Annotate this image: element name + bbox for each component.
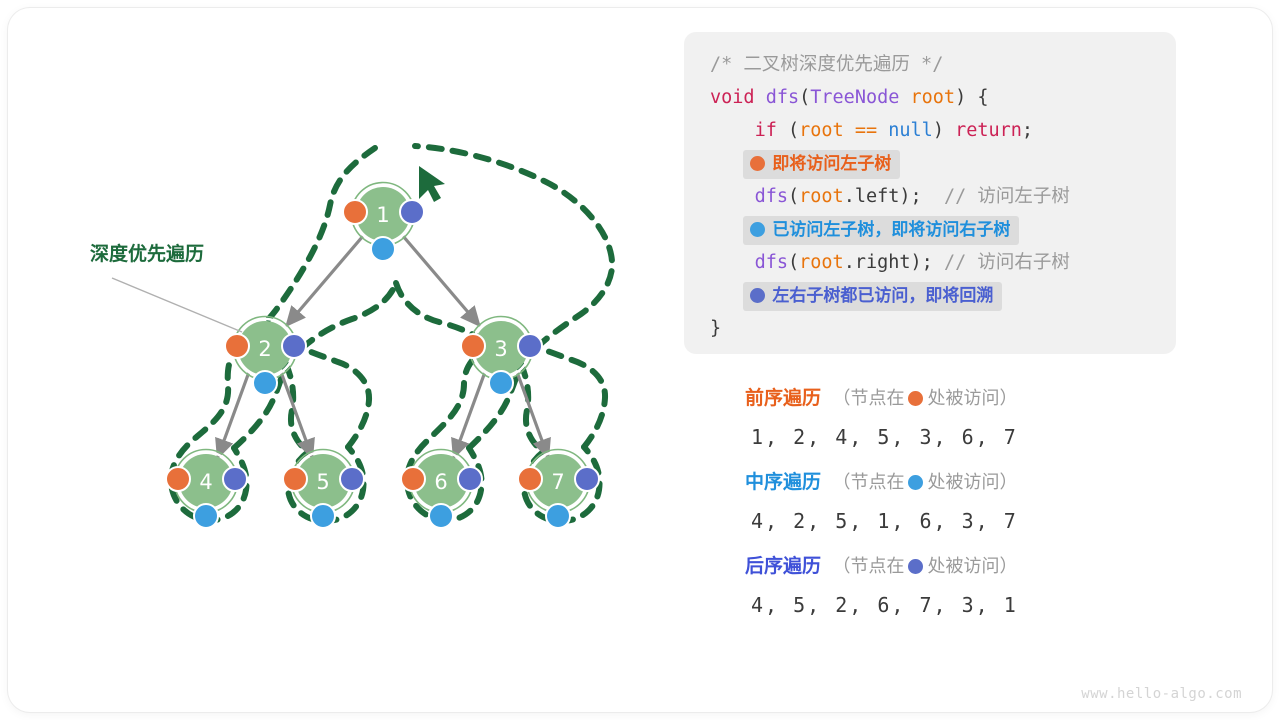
code-panel: /* 二叉树深度优先遍历 */ void dfs(TreeNode root) … <box>684 32 1176 354</box>
code-dfsleft-fn: dfs <box>755 186 788 207</box>
preorder-note-suffix: 处被访问） <box>927 388 1017 409</box>
code-line-highlight-in: 已访问左子树，即将访问右子树 <box>710 213 1154 246</box>
code-dfsleft-comment: // 访问左子树 <box>944 186 1070 207</box>
code-if-var: root <box>799 120 844 141</box>
dfs-caption-group: 深度优先遍历 <box>90 242 242 332</box>
code-line-comment: /* 二叉树深度优先遍历 */ <box>710 48 1154 81</box>
preorder-dot-6 <box>401 467 425 491</box>
postorder-dot-7 <box>575 467 599 491</box>
inorder-sequence: 4, 2, 5, 1, 6, 3, 7 <box>751 509 1185 533</box>
code-dfsright-var: root <box>799 252 844 273</box>
inorder-dot-4 <box>194 504 218 528</box>
inorder-note-prefix: （节点在 <box>832 472 904 493</box>
code-if-paren-close: ) <box>933 120 944 141</box>
code-line-if: if (root == null) return; <box>710 114 1154 147</box>
node-label-2: 2 <box>258 337 271 361</box>
tree-node-3[interactable]: 3 <box>461 317 542 396</box>
highlight-preorder: 即将访问左子树 <box>743 150 900 179</box>
postorder-dot-6 <box>458 467 482 491</box>
node-label-7: 7 <box>551 470 564 494</box>
highlight-preorder-text: 即将访问左子树 <box>772 154 891 174</box>
dfs-caption-text: 深度优先遍历 <box>90 242 204 265</box>
traversal-legend: 前序遍历 （节点在处被访问） 1, 2, 4, 5, 3, 6, 7 中序遍历 … <box>745 383 1185 635</box>
code-dfsright-close: ); <box>911 252 933 273</box>
code-if-null: null <box>888 120 933 141</box>
inorder-dot-3 <box>489 371 513 395</box>
preorder-dot-2 <box>225 334 249 358</box>
inorder-dot-5 <box>311 504 335 528</box>
preorder-dot-1 <box>343 200 367 224</box>
postorder-dot-5 <box>340 467 364 491</box>
postorder-dot-4 <box>223 467 247 491</box>
code-line-close-brace: } <box>710 312 1154 345</box>
inorder-title: 中序遍历 <box>745 471 821 493</box>
preorder-dot-4 <box>166 467 190 491</box>
tree-node-4[interactable]: 4 <box>166 450 247 529</box>
code-kw-if: if <box>755 120 777 141</box>
code-line-highlight-pre: 即将访问左子树 <box>710 147 1154 180</box>
code-dfsleft-open: ( <box>788 186 799 207</box>
code-comment-text: /* 二叉树深度优先遍历 */ <box>710 54 943 75</box>
postorder-heading: 后序遍历 （节点在处被访问） <box>745 551 1185 582</box>
node-label-6: 6 <box>434 470 447 494</box>
code-kw-void: void <box>710 87 755 108</box>
preorder-heading: 前序遍历 （节点在处被访问） <box>745 383 1185 414</box>
binary-tree-svg: 1 2 <box>30 20 670 680</box>
tree-diagram-panel: 1 2 <box>30 20 670 680</box>
code-close-brace-text: } <box>710 318 721 339</box>
tree-nodes: 1 2 <box>166 183 599 529</box>
caption-leader-line <box>112 278 242 332</box>
postorder-dot-1 <box>400 200 424 224</box>
code-dfsright-open: ( <box>788 252 799 273</box>
postorder-legend-dot-icon <box>908 559 923 574</box>
inorder-note-suffix: 处被访问） <box>927 472 1017 493</box>
preorder-note-prefix: （节点在 <box>832 388 904 409</box>
code-dfsleft-var: root <box>799 186 844 207</box>
code-dfsright-member: .right <box>844 252 911 273</box>
code-dfsright-comment: // 访问右子树 <box>944 252 1070 273</box>
inorder-dot-7 <box>546 504 570 528</box>
tree-node-1[interactable]: 1 <box>343 183 424 262</box>
inorder-dot-2 <box>253 371 277 395</box>
code-line-dfs-right: dfs(root.right); // 访问右子树 <box>710 246 1154 279</box>
play-cursor-icon <box>419 166 445 202</box>
node-label-5: 5 <box>316 470 329 494</box>
tree-node-2[interactable]: 2 <box>225 317 306 396</box>
postorder-title: 后序遍历 <box>745 555 821 577</box>
node-label-1: 1 <box>376 203 389 227</box>
code-if-paren-open: ( <box>788 120 799 141</box>
code-paren-open: ( <box>799 87 810 108</box>
preorder-legend-dot-icon <box>908 391 923 406</box>
code-dfsleft-close: ); <box>899 186 921 207</box>
inorder-dot-1 <box>371 237 395 261</box>
code-kw-return: return <box>955 120 1022 141</box>
postorder-note-prefix: （节点在 <box>832 556 904 577</box>
code-if-op: == <box>855 120 877 141</box>
highlight-inorder-text: 已访问左子树，即将访问右子树 <box>772 220 1010 240</box>
watermark: www.hello-algo.com <box>1081 686 1242 702</box>
tree-node-5[interactable]: 5 <box>283 450 364 529</box>
code-dfsleft-member: .left <box>844 186 900 207</box>
inorder-heading: 中序遍历 （节点在处被访问） <box>745 467 1185 498</box>
node-label-3: 3 <box>494 337 507 361</box>
inorder-dot-icon <box>750 222 765 237</box>
preorder-dot-icon <box>750 156 765 171</box>
code-line-signature: void dfs(TreeNode root) { <box>710 81 1154 114</box>
preorder-dot-7 <box>518 467 542 491</box>
postorder-dot-3 <box>518 334 542 358</box>
code-type-treenode: TreeNode <box>810 87 899 108</box>
figure-root: 1 2 <box>0 0 1280 720</box>
code-line-dfs-left: dfs(root.left); // 访问左子树 <box>710 180 1154 213</box>
postorder-dot-icon <box>750 288 765 303</box>
code-fn-dfs: dfs <box>766 87 799 108</box>
code-if-semi: ; <box>1022 120 1033 141</box>
node-label-4: 4 <box>199 470 212 494</box>
tree-node-7[interactable]: 7 <box>518 450 599 529</box>
preorder-dot-5 <box>283 467 307 491</box>
code-param-root: root <box>911 87 956 108</box>
code-sig-close: ) { <box>955 87 988 108</box>
highlight-postorder: 左右子树都已访问，即将回溯 <box>743 282 1002 311</box>
preorder-title: 前序遍历 <box>745 387 821 409</box>
inorder-dot-6 <box>429 504 453 528</box>
code-line-highlight-post: 左右子树都已访问，即将回溯 <box>710 279 1154 312</box>
postorder-dot-2 <box>282 334 306 358</box>
preorder-sequence: 1, 2, 4, 5, 3, 6, 7 <box>751 425 1185 449</box>
highlight-inorder: 已访问左子树，即将访问右子树 <box>743 216 1019 245</box>
code-dfsright-fn: dfs <box>755 252 788 273</box>
inorder-legend-dot-icon <box>908 475 923 490</box>
preorder-dot-3 <box>461 334 485 358</box>
postorder-sequence: 4, 5, 2, 6, 7, 3, 1 <box>751 593 1185 617</box>
highlight-postorder-text: 左右子树都已访问，即将回溯 <box>772 286 993 306</box>
postorder-note-suffix: 处被访问） <box>927 556 1017 577</box>
